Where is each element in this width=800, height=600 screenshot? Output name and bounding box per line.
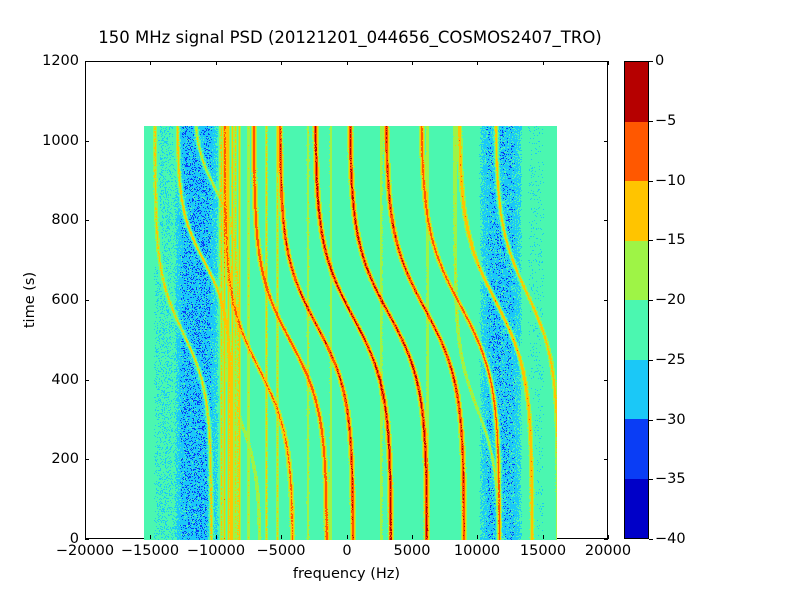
x-tick-label: 20000 [585, 543, 631, 559]
x-tick-mark [543, 61, 544, 65]
x-tick-mark [347, 61, 348, 65]
y-tick-label: 1000 [42, 133, 79, 149]
x-tick-label: 0 [342, 543, 351, 559]
colorbar-band [625, 300, 648, 360]
x-tick-mark [216, 535, 217, 539]
colorbar-tick-label: −15 [655, 232, 686, 248]
colorbar-tick-mark [649, 300, 653, 301]
y-tick-label: 800 [51, 212, 79, 228]
y-tick-mark [85, 141, 89, 142]
x-tick-label: −15000 [121, 543, 179, 559]
y-tick-label: 200 [51, 451, 79, 467]
x-tick-mark [543, 535, 544, 539]
y-tick-mark [604, 220, 608, 221]
y-tick-mark [604, 61, 608, 62]
colorbar-band [625, 479, 648, 539]
colorbar-tick-label: −35 [655, 471, 686, 487]
colorbar-tick-label: −20 [655, 292, 686, 308]
y-tick-mark [85, 220, 89, 221]
y-tick-mark [85, 380, 89, 381]
colorbar-band [625, 360, 648, 420]
x-tick-label: 15000 [520, 543, 566, 559]
x-tick-mark [477, 535, 478, 539]
x-tick-mark [608, 61, 609, 65]
matplotlib-figure: 150 MHz signal PSD (20121201_044656_COSM… [0, 0, 800, 600]
y-tick-label: 600 [51, 292, 79, 308]
colorbar-band [625, 181, 648, 241]
colorbar-tick-mark [649, 121, 653, 122]
x-tick-mark [412, 535, 413, 539]
x-tick-mark [347, 535, 348, 539]
colorbar-tick-mark [649, 61, 653, 62]
x-axis-label: frequency (Hz) [85, 566, 608, 582]
x-tick-mark [150, 61, 151, 65]
spectrogram-heatmap [144, 126, 557, 540]
colorbar-tick-mark [649, 181, 653, 182]
x-tick-mark [608, 535, 609, 539]
x-tick-mark [281, 535, 282, 539]
colorbar-tick-mark [649, 420, 653, 421]
y-tick-mark [85, 61, 89, 62]
colorbar[interactable] [624, 61, 649, 539]
y-tick-mark [604, 300, 608, 301]
colorbar-tick-label: −30 [655, 412, 686, 428]
colorbar-band [625, 419, 648, 479]
y-tick-mark [85, 459, 89, 460]
x-tick-label: 5000 [394, 543, 431, 559]
colorbar-tick-label: −10 [655, 173, 686, 189]
x-tick-label: 10000 [454, 543, 500, 559]
colorbar-tick-mark [649, 240, 653, 241]
colorbar-tick-mark [649, 360, 653, 361]
y-tick-mark [85, 300, 89, 301]
x-tick-label: −10000 [187, 543, 245, 559]
y-tick-mark [604, 539, 608, 540]
x-tick-mark [150, 535, 151, 539]
y-axis-label: time (s) [22, 272, 38, 328]
y-tick-mark [604, 459, 608, 460]
colorbar-band [625, 62, 648, 122]
plot-axes[interactable] [85, 61, 608, 539]
colorbar-tick-label: 0 [655, 53, 664, 69]
colorbar-tick-mark [649, 479, 653, 480]
colorbar-tick-mark [649, 539, 653, 540]
colorbar-band [625, 122, 648, 182]
page-title: 150 MHz signal PSD (20121201_044656_COSM… [0, 28, 700, 47]
y-tick-label: 1200 [42, 53, 79, 69]
y-tick-label: 400 [51, 372, 79, 388]
colorbar-tick-label: −40 [655, 531, 686, 547]
y-tick-label: 0 [70, 531, 79, 547]
x-tick-label: −5000 [256, 543, 305, 559]
colorbar-band [625, 241, 648, 301]
y-tick-mark [604, 380, 608, 381]
x-tick-mark [281, 61, 282, 65]
x-tick-mark [412, 61, 413, 65]
x-tick-mark [477, 61, 478, 65]
colorbar-tick-label: −25 [655, 352, 686, 368]
x-tick-mark [216, 61, 217, 65]
y-tick-mark [85, 539, 89, 540]
colorbar-tick-label: −5 [655, 113, 676, 129]
x-tick-label: −20000 [56, 543, 114, 559]
y-tick-mark [604, 141, 608, 142]
